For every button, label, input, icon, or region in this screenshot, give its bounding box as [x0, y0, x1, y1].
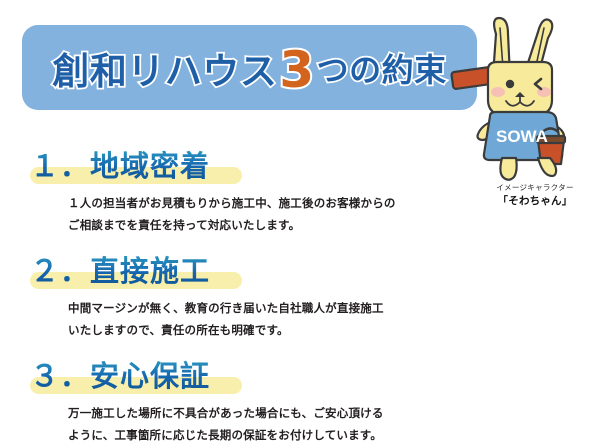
eye-left — [506, 80, 514, 88]
promise-2-body-line-1: 中間マージンが無く、教育の行き届いた自社職人が直接施工 — [68, 297, 600, 319]
promise-2-heading: ２．直接施工 — [0, 251, 600, 293]
promise-1-heading-text: １．地域密着 — [30, 146, 210, 186]
promise-1-heading: １．地域密着 — [0, 146, 600, 188]
header-banner: 創和リハウス 3 つの約束 — [22, 25, 477, 110]
promise-3-heading: ３．安心保証 — [0, 356, 600, 398]
promise-item-2: ２．直接施工 中間マージンが無く、教育の行き届いた自社職人が直接施工 いたします… — [0, 251, 600, 342]
promise-item-1: １．地域密着 １人の担当者がお見積もりから施工中、施工後のお客様からの ご相談ま… — [0, 146, 600, 237]
banner-title: 創和リハウス 3 つの約束 — [22, 25, 477, 110]
promise-2-body: 中間マージンが無く、教育の行き届いた自社職人が直接施工 いたしますので、責任の所… — [68, 297, 600, 342]
promise-3-body: 万一施工した場所に不具合があった場合にも、ご安心頂ける ように、工事箇所に応じた… — [68, 402, 600, 447]
promise-2-body-line-2: いたしますので、責任の所在も明確です。 — [68, 319, 600, 341]
promise-3-body-line-2: ように、工事箇所に応じた長期の保証をお付けしています。 — [68, 424, 600, 446]
banner-title-main: 創和リハウス — [52, 41, 277, 95]
promise-1-body: １人の担当者がお見積もりから施工中、施工後のお客様からの ご相談までを責任を持っ… — [68, 192, 600, 237]
promise-3-heading-text: ３．安心保証 — [30, 356, 210, 396]
promise-2-heading-text: ２．直接施工 — [30, 251, 210, 291]
promise-1-body-line-2: ご相談までを責任を持って対応いたします。 — [68, 214, 600, 236]
banner-title-number: 3 — [279, 41, 314, 99]
promise-1-body-line-1: １人の担当者がお見積もりから施工中、施工後のお客様からの — [68, 192, 600, 214]
promise-3-body-line-1: 万一施工した場所に不具合があった場合にも、ご安心頂ける — [68, 402, 600, 424]
promise-item-3: ３．安心保証 万一施工した場所に不具合があった場合にも、ご安心頂ける ように、工… — [0, 356, 600, 447]
apron-label-text: SOWA — [496, 127, 548, 146]
banner-title-tail: つの約束 — [317, 45, 447, 91]
